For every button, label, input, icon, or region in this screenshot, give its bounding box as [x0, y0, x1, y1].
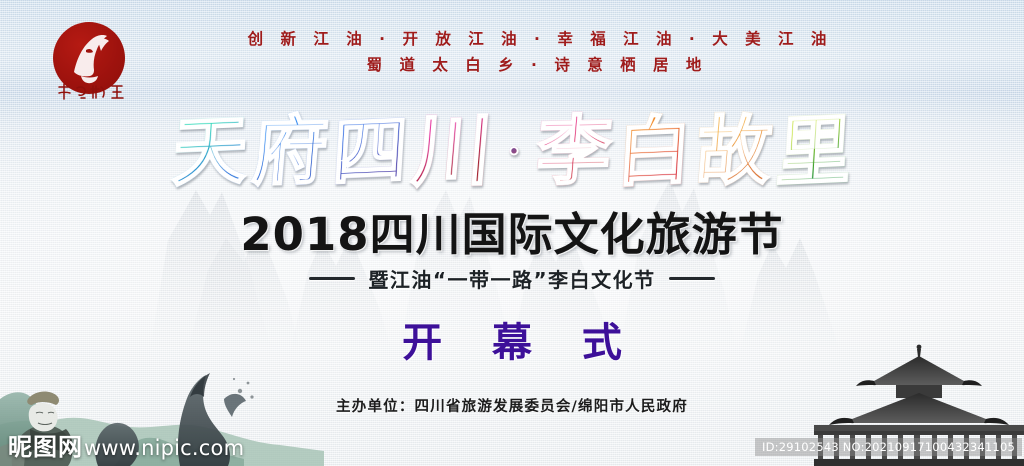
site-watermark: 昵图网 www.nipic.com: [8, 427, 244, 462]
slogan-line-1: 创 新 江 油 · 开 放 江 油 · 幸 福 江 油 · 大 美 江 油: [50, 26, 1024, 52]
calligraphy-char-6: 白: [614, 104, 694, 199]
calligraphy-char-5: 李: [533, 105, 615, 199]
slogan-line-2: 蜀 道 太 白 乡 · 诗 意 栖 居 地: [44, 52, 1024, 78]
calligraphy-char-1: 府: [249, 105, 331, 199]
logo-caption-calligraphy: [47, 79, 129, 105]
poster-canvas: 创 新 江 油 · 开 放 江 油 · 幸 福 江 油 · 大 美 江 油 蜀 …: [0, 0, 1024, 466]
subtitle-rule-left: [309, 277, 355, 280]
subtitle-block: 暨江油“一带一路”李白文化节: [0, 264, 1024, 293]
calligraphy-char-3: 川: [409, 105, 495, 199]
watermark-site-name: 昵图网: [8, 427, 83, 462]
asset-id-watermark: ID:29102543 NO:20210917100432341105: [755, 438, 1022, 456]
subtitle-rule-right: [669, 277, 715, 280]
watermark-site-url: www.nipic.com: [84, 436, 244, 460]
calligraphy-separator-dot: ·: [497, 106, 531, 198]
calligraphy-char-2: 四: [330, 104, 410, 199]
main-event-title: 2018四川国际文化旅游节: [0, 198, 1024, 263]
calligraphy-char-8: 里: [774, 104, 854, 199]
calligraphy-char-7: 故: [693, 105, 775, 199]
slogan-block: 创 新 江 油 · 开 放 江 油 · 幸 福 江 油 · 大 美 江 油 蜀 …: [0, 26, 1024, 78]
calligraphy-title: 天府四川·李白故里: [0, 104, 1024, 200]
calligraphy-char-0: 天: [170, 104, 250, 199]
subtitle-text: 暨江油“一带一路”李白文化节: [368, 264, 655, 293]
